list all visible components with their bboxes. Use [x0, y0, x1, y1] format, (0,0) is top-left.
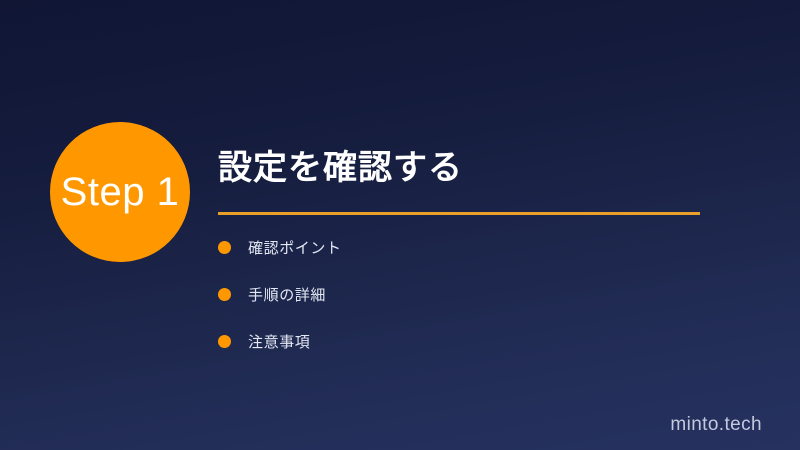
list-item: 確認ポイント: [218, 236, 688, 258]
step-badge-label: Step 1: [47, 122, 193, 262]
title-divider-rule: [218, 212, 700, 215]
title-block: 設定を確認する: [218, 146, 704, 215]
bullet-dot-icon: [218, 335, 231, 348]
list-item: 手順の詳細: [218, 283, 688, 305]
slide-title: 設定を確認する: [218, 146, 704, 190]
step-badge: Step 1: [50, 122, 190, 262]
list-item: 注意事項: [218, 330, 688, 352]
footer-brand-watermark: minto.tech: [670, 414, 762, 436]
bullet-dot-icon: [218, 241, 231, 254]
bullet-item-label: 手順の詳細: [248, 284, 326, 305]
bullet-item-label: 注意事項: [248, 331, 310, 352]
bullet-list: 確認ポイント 手順の詳細 注意事項: [218, 236, 688, 352]
presentation-slide: Step 1 設定を確認する 確認ポイント 手順の詳細 注意事項 minto.t…: [0, 0, 800, 450]
bullet-dot-icon: [218, 288, 231, 301]
bullet-item-label: 確認ポイント: [248, 237, 342, 258]
